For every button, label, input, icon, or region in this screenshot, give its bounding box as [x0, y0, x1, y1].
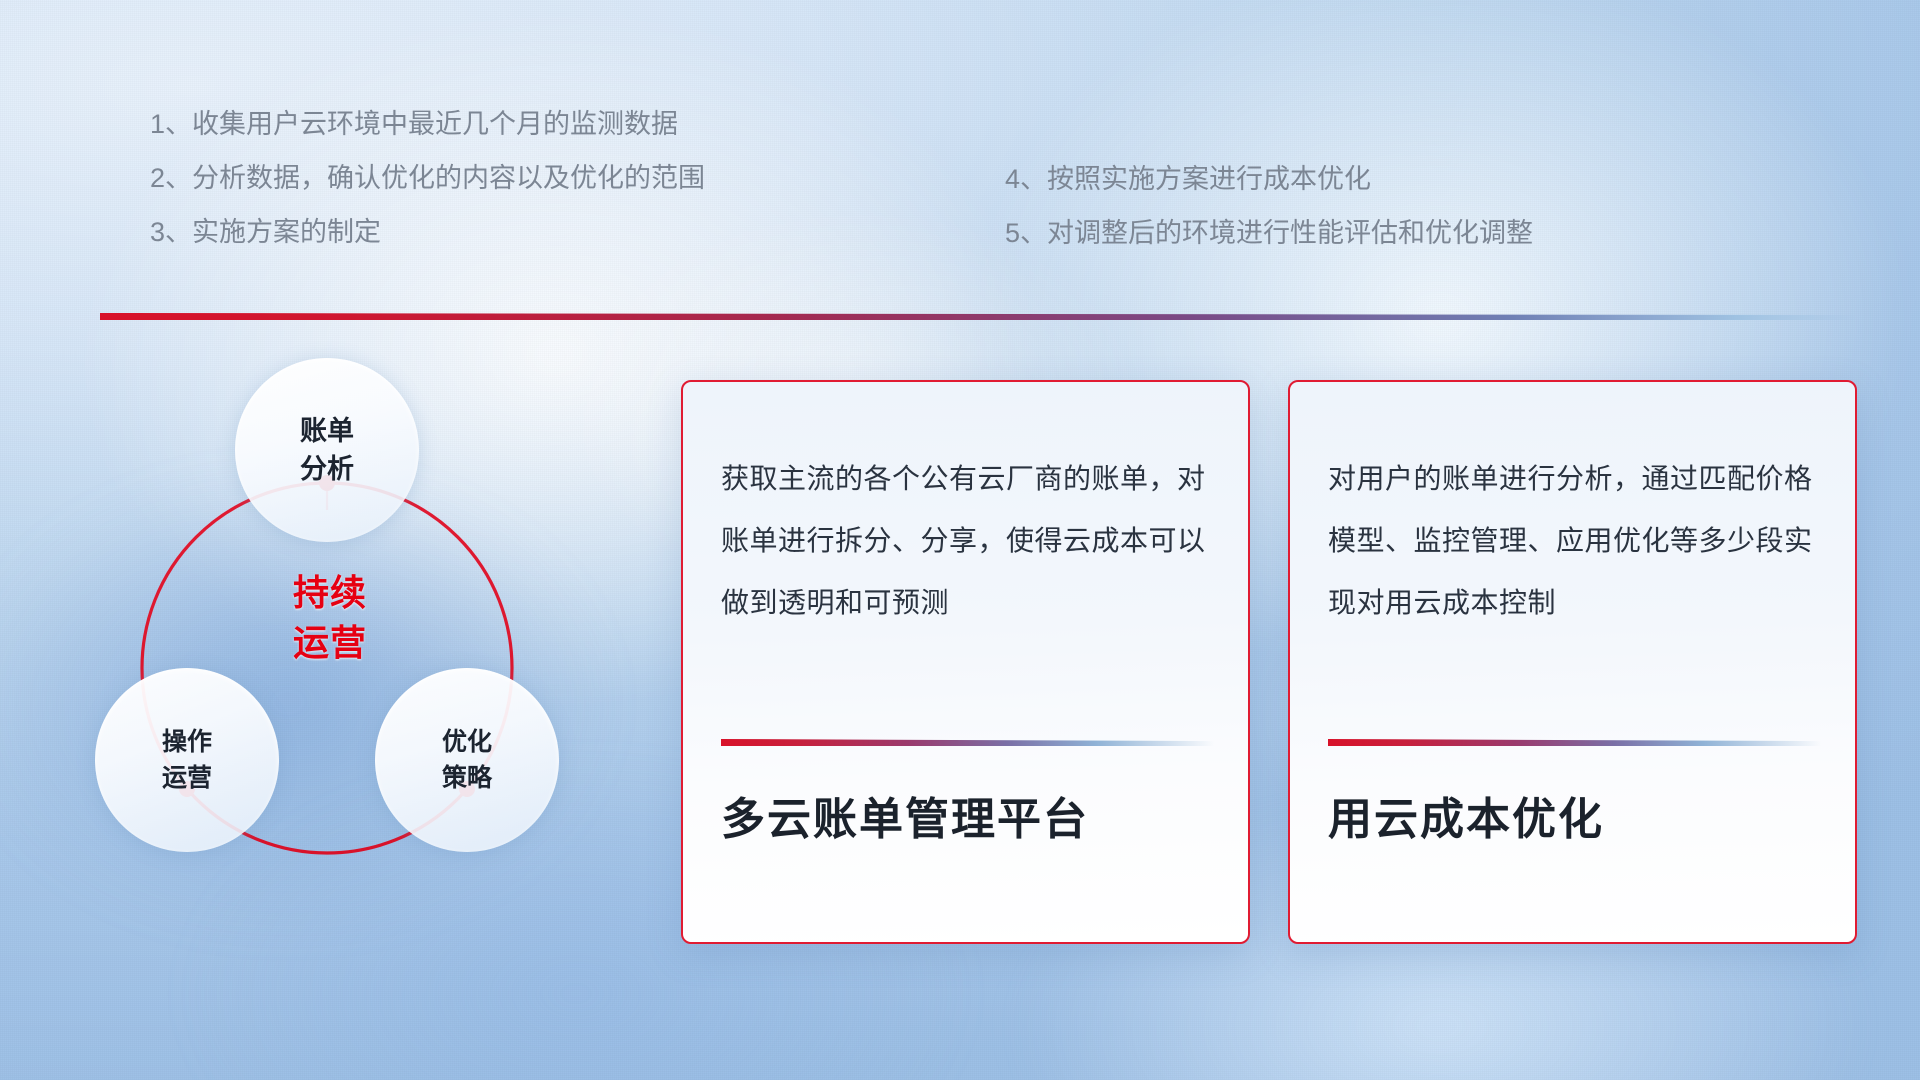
card-title: 多云账单管理平台 [721, 790, 1214, 850]
center-label-line-2: 运营 [293, 618, 367, 668]
card-divider-rule [721, 739, 1214, 746]
steps-list-left: 1、收集用户云环境中最近几个月的监测数据 2、分析数据，确认优化的内容以及优化的… [150, 97, 705, 259]
step-item-3: 3、实施方案的制定 [150, 205, 705, 259]
step-item-5: 5、对调整后的环境进行性能评估和优化调整 [1005, 206, 1533, 260]
bubble-label-line-1: 优化 [442, 724, 492, 760]
bubble-label-line-1: 账单 [300, 412, 354, 450]
step-item-1: 1、收集用户云环境中最近几个月的监测数据 [150, 97, 705, 151]
card-description: 获取主流的各个公有云厂商的账单，对账单进行拆分、分享，使得云成本可以做到透明和可… [721, 448, 1214, 634]
card-title: 用云成本优化 [1328, 790, 1821, 850]
bubble-label-line-1: 操作 [162, 724, 212, 760]
step-item-2: 2、分析数据，确认优化的内容以及优化的范围 [150, 151, 705, 205]
bubble-label-line-2: 策略 [442, 760, 492, 796]
bubble-label-line-2: 分析 [300, 450, 354, 488]
bubble-operations[interactable]: 操作 运营 [95, 668, 279, 852]
section-divider-rule [100, 313, 1860, 320]
card-multi-cloud-billing-platform[interactable]: 获取主流的各个公有云厂商的账单，对账单进行拆分、分享，使得云成本可以做到透明和可… [681, 380, 1250, 944]
diagram-center-label: 持续 运营 [250, 558, 410, 678]
bubble-label-line-2: 运营 [162, 760, 212, 796]
bubble-optimization-strategy[interactable]: 优化 策略 [375, 668, 559, 852]
step-item-4: 4、按照实施方案进行成本优化 [1005, 152, 1533, 206]
bubble-billing-analysis[interactable]: 账单 分析 [235, 358, 419, 542]
continuous-operations-diagram: 账单 分析 操作 运营 优化 策略 持续 运营 [95, 358, 640, 938]
card-cloud-cost-optimization[interactable]: 对用户的账单进行分析，通过匹配价格模型、监控管理、应用优化等多少段实现对用云成本… [1288, 380, 1857, 944]
card-divider-rule [1328, 739, 1821, 746]
card-description: 对用户的账单进行分析，通过匹配价格模型、监控管理、应用优化等多少段实现对用云成本… [1328, 448, 1821, 634]
steps-list-right: 4、按照实施方案进行成本优化 5、对调整后的环境进行性能评估和优化调整 [1005, 152, 1533, 260]
center-label-line-1: 持续 [293, 568, 367, 618]
